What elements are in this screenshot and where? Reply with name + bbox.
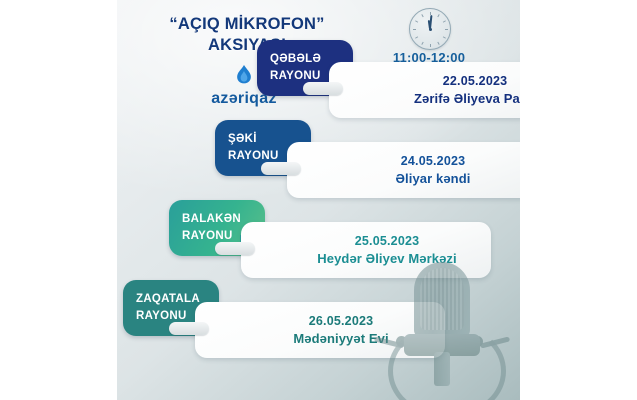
event-card: 22.05.2023 Zərifə Əliyeva Parkı xyxy=(329,62,520,118)
microphone-icon xyxy=(376,228,520,400)
event-card: 24.05.2023 Əliyar kəndi xyxy=(287,142,520,198)
event-place: Zərifə Əliyeva Parkı xyxy=(414,91,520,106)
card-connector-tab xyxy=(169,322,209,335)
poster-title-line1: “AÇIQ MİKROFON” xyxy=(169,15,324,33)
event-date: 24.05.2023 xyxy=(401,154,466,168)
poster-image: “AÇIQ MİKROFON” AKSIYASI azəriqaz xyxy=(117,0,520,400)
event-date: 26.05.2023 xyxy=(309,314,374,328)
card-connector-tab xyxy=(215,242,255,255)
event-date: 22.05.2023 xyxy=(443,74,508,88)
flame-icon xyxy=(234,64,254,88)
clock-icon xyxy=(409,8,451,50)
card-connector-tab xyxy=(261,162,301,175)
event-place: Əliyar kəndi xyxy=(396,171,471,186)
card-connector-tab xyxy=(303,82,343,95)
page-background: “AÇIQ MİKROFON” AKSIYASI azəriqaz xyxy=(0,0,637,400)
